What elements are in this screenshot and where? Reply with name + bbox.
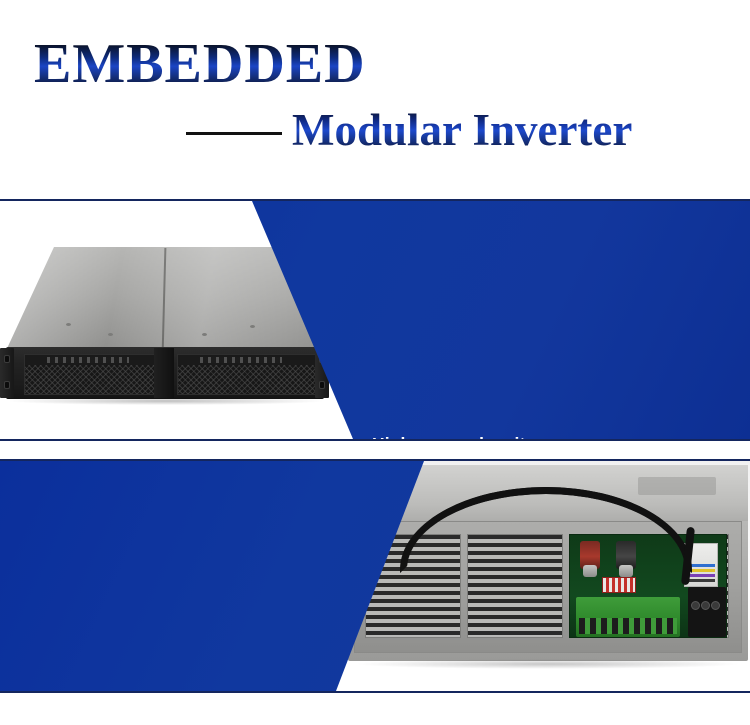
connector-jack <box>711 601 720 610</box>
center-divider-bracket <box>154 348 174 398</box>
wire-purple <box>687 574 715 577</box>
drop-shadow <box>10 397 322 405</box>
module-bay-right <box>177 354 316 395</box>
rack-mount-ear-left <box>0 348 14 398</box>
feature-panel-high-power-density: High power density: 1/2 19” width design… <box>0 199 750 441</box>
terminal-pins <box>579 618 677 634</box>
deck-screw <box>202 333 207 336</box>
feature-panel-protection-function: Protection function: It has the function… <box>0 459 750 693</box>
page-title: EMBEDDED <box>34 36 366 92</box>
status-led-strip <box>47 357 129 363</box>
brand-label-plate <box>638 477 716 495</box>
rack-screw-hole <box>319 381 325 389</box>
page-subtitle: Modular Inverter <box>292 108 632 153</box>
deck-screw <box>250 325 255 328</box>
deck-screw <box>66 323 71 326</box>
status-led-strip <box>200 357 282 363</box>
drop-shadow <box>354 659 742 669</box>
green-terminal-block <box>576 597 680 637</box>
ventilation-mesh <box>25 365 163 395</box>
feature-text-high-power-density: High power density: 1/2 19” width design… <box>372 429 702 441</box>
rack-screw-hole <box>4 381 10 389</box>
connector-jack <box>691 601 700 610</box>
subtitle-group: Modular Inverter <box>186 108 632 153</box>
dip-switch-bank <box>602 577 636 593</box>
module-bay-left <box>24 354 163 395</box>
page-header: EMBEDDED Modular Inverter <box>0 0 750 190</box>
deck-screw <box>108 333 113 336</box>
wire-black <box>687 579 715 582</box>
output-connector-bank <box>688 587 726 637</box>
rack-unit-illustration <box>4 247 326 397</box>
em-dash-rule <box>186 132 282 135</box>
connector-jack <box>701 601 710 610</box>
ventilation-mesh <box>178 365 316 395</box>
rack-screw-hole <box>4 355 10 363</box>
feature-line: High power density: <box>372 429 702 441</box>
